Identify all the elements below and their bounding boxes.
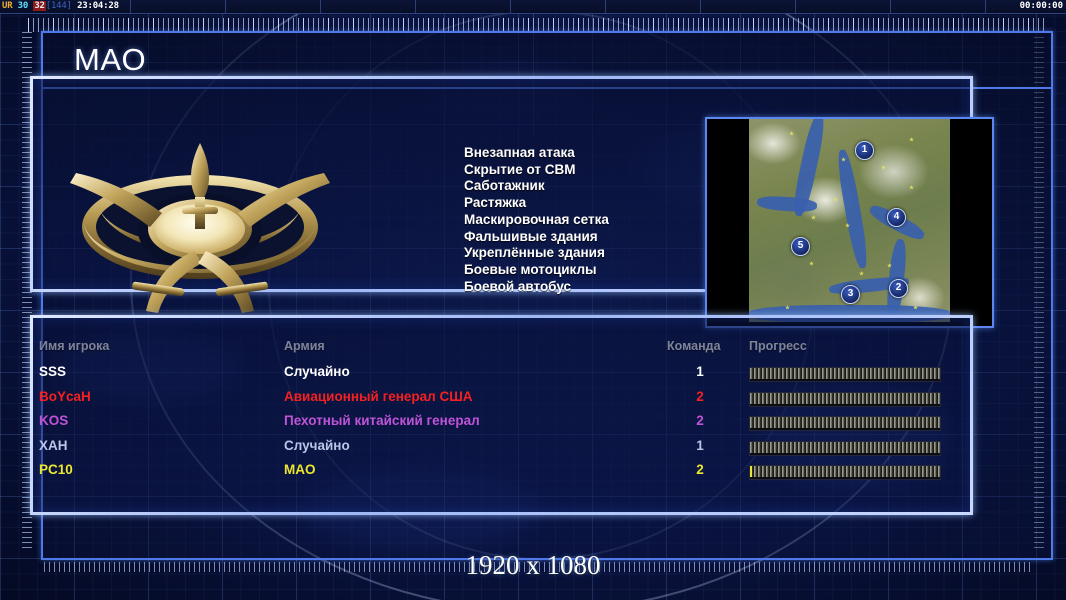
player-name: SSS (39, 364, 66, 379)
page-title: MAO (74, 42, 146, 78)
status-time: 23:04:28 (77, 1, 119, 11)
player-army: MAO (284, 462, 316, 477)
game-lobby-screen: UR 30 32[144] 23:04:28 00:00:00 MAO (0, 0, 1066, 600)
minimap-start-position: 3 (841, 285, 860, 304)
feature-item: Боевой автобус (464, 279, 609, 296)
player-army: Авиационный генерал США (284, 389, 473, 404)
progress-bar-fill (750, 466, 940, 477)
player-name: PC10 (39, 462, 73, 477)
resolution-label: 1920 x 1080 (0, 550, 1066, 581)
top-status-bar: UR 30 32[144] 23:04:28 00:00:00 (0, 0, 1066, 14)
minimap-resource-icon (789, 131, 794, 136)
match-clock: 00:00:00 (1020, 1, 1063, 12)
minimap-start-position: 1 (855, 141, 874, 160)
progress-bar-fill (750, 417, 940, 428)
minimap-river (835, 149, 871, 270)
minimap-resource-icon (809, 261, 814, 266)
table-row[interactable]: KOSПехотный китайский генерал2 (30, 413, 967, 437)
player-team: 2 (693, 462, 707, 477)
faction-emblem-icon (70, 135, 330, 315)
status-prefix: UR (2, 1, 12, 11)
table-row[interactable]: SSSСлучайно1 (30, 364, 967, 388)
status-bracket: [144] (46, 1, 72, 11)
progress-bar (749, 367, 941, 382)
feature-item: Скрытие от СВМ (464, 162, 609, 179)
minimap-start-position: 2 (889, 279, 908, 298)
progress-bar-marker (750, 466, 752, 477)
status-num2: 32 (33, 1, 45, 11)
minimap-resource-icon (881, 165, 886, 170)
minimap-resource-icon (909, 185, 914, 190)
player-army: Пехотный китайский генерал (284, 413, 480, 428)
player-army: Случайно (284, 438, 350, 453)
minimap-resource-icon (909, 137, 914, 142)
feature-item: Фальшивые здания (464, 229, 609, 246)
minimap-preview: 1 4 5 3 2 (705, 117, 994, 328)
table-row[interactable]: PC10MAO2 (30, 462, 967, 486)
player-team: 2 (693, 413, 707, 428)
player-name: XAH (39, 438, 68, 453)
minimap-start-position: 5 (791, 237, 810, 256)
minimap-start-position: 4 (887, 208, 906, 227)
feature-item: Растяжка (464, 195, 609, 212)
feature-item: Маскировочная сетка (464, 212, 609, 229)
table-row[interactable]: XAHСлучайно1 (30, 438, 967, 462)
progress-bar (749, 441, 941, 456)
faction-feature-list: Внезапная атака Скрытие от СВМ Саботажни… (464, 145, 609, 295)
player-army: Случайно (284, 364, 350, 379)
progress-bar-fill (750, 442, 940, 453)
player-name: BoYcaH (39, 389, 91, 404)
progress-bar (749, 392, 941, 407)
progress-bar-fill (750, 368, 940, 379)
minimap-resource-icon (859, 271, 864, 276)
network-status-readout: UR 30 32[144] 23:04:28 (2, 1, 119, 12)
feature-item: Саботажник (464, 178, 609, 195)
feature-item: Укреплённые здания (464, 245, 609, 262)
feature-item: Боевые мотоциклы (464, 262, 609, 279)
player-name: KOS (39, 413, 68, 428)
table-row[interactable]: BoYcaHАвиационный генерал США2 (30, 389, 967, 413)
feature-item: Внезапная атака (464, 145, 609, 162)
player-team: 2 (693, 389, 707, 404)
minimap-resource-icon (811, 215, 816, 220)
minimap-resource-icon (833, 197, 838, 202)
player-team: 1 (693, 438, 707, 453)
status-num1: 30 (18, 1, 28, 11)
player-team: 1 (693, 364, 707, 379)
progress-bar-fill (750, 393, 940, 404)
progress-bar (749, 416, 941, 431)
ruler-top (28, 18, 1046, 32)
minimap-terrain: 1 4 5 3 2 (749, 119, 950, 322)
progress-bar (749, 465, 941, 480)
